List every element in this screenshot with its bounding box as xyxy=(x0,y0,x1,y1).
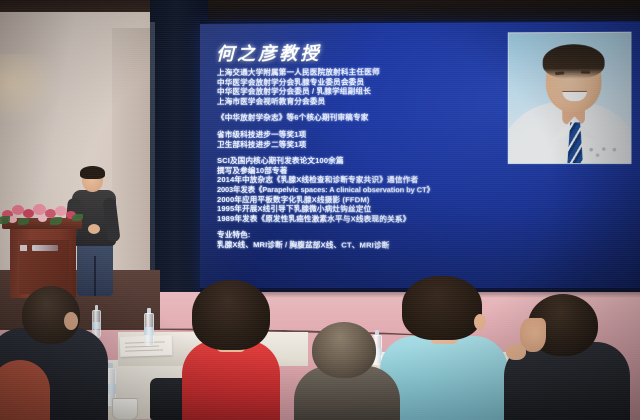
slide-portrait-photo xyxy=(508,32,632,164)
portrait-eye-right xyxy=(581,70,590,73)
affiliation-line: 上海市医学会视听教育分会委员 xyxy=(217,96,521,106)
audience-head xyxy=(402,276,482,340)
portrait-hair xyxy=(543,44,605,79)
podium-logo-mark xyxy=(20,245,27,251)
slide-body: 上海交通大学附属第一人民医院放射科主任医师 中华医学会放射学分会乳腺专业委员会委… xyxy=(217,67,521,258)
audience-woman-red-top xyxy=(178,282,298,420)
audience-hand xyxy=(506,344,526,360)
lecture-hall-photo: 何之彦教授 上海交通大学附属第一人民医院放射科主任医师 中华医学会放射学分会乳腺… xyxy=(0,0,640,420)
projection-screen: 何之彦教授 上海交通大学附属第一人民医院放射科主任医师 中华医学会放射学分会乳腺… xyxy=(200,21,640,294)
water-bottle xyxy=(144,313,154,346)
presenter-hand xyxy=(88,224,100,234)
slide-publications: SCI及国内核心期刊发表论文100余篇 撰写及参编10部专著 2014年中放杂志… xyxy=(217,156,521,224)
audience-man-dark-jacket-right xyxy=(512,296,640,420)
podium-flowers xyxy=(0,200,86,226)
publication-line: 1989年发表《原发性乳癌性激素水平与X线表现的关系》 xyxy=(217,214,562,225)
publication-line: 2014年中放杂志《乳腺X线检查和诊断专家共识》通信作者 xyxy=(217,175,562,185)
slide-awards: 省市级科技进步一等奖1项 卫生部科技进步二等奖1项 xyxy=(217,130,521,150)
podium-logo xyxy=(32,245,58,251)
slide-affiliations: 上海交通大学附属第一人民医院放射科主任医师 中华医学会放射学分会乳腺专业委员会委… xyxy=(217,67,521,107)
slide-journals: 《中华放射学杂志》等6个核心期刊审稿专家 xyxy=(217,113,521,123)
journal-line: 《中华放射学杂志》等6个核心期刊审稿专家 xyxy=(217,113,521,123)
audience-man-dark-suit-far-right xyxy=(300,322,396,420)
audience-head xyxy=(192,280,270,350)
podium xyxy=(2,196,82,300)
publication-line: 1995年开展X线引导下乳腺微小病灶钩丝定位 xyxy=(217,204,521,214)
presentation-slide: 何之彦教授 上海交通大学附属第一人民医院放射科主任医师 中华医学会放射学分会乳腺… xyxy=(200,21,640,294)
publication-line: 2003年发表《Parapelvic spaces: A clinical ob… xyxy=(217,185,562,195)
specialty-line: 乳腺X线、MRI诊断 / 胸腹盆部X线、CT、MRI诊断 xyxy=(217,240,562,251)
dark-column-edge xyxy=(150,22,155,300)
audience-ear xyxy=(64,312,78,330)
slide-specialty: 专业特色: 乳腺X线、MRI诊断 / 胸腹盆部X线、CT、MRI诊断 xyxy=(217,230,521,250)
wall-light-glow xyxy=(0,54,60,124)
audience-head xyxy=(312,322,376,378)
slide-title: 何之彦教授 xyxy=(216,39,322,66)
audience-ear xyxy=(474,314,486,330)
presenter-hair xyxy=(80,166,105,179)
award-line: 卫生部科技进步二等奖1项 xyxy=(217,139,521,149)
portrait-watermark xyxy=(587,145,622,157)
audience-partial-left-edge xyxy=(0,330,38,420)
publication-line: SCI及国内核心期刊发表论文100余篇 xyxy=(217,156,521,166)
award-line: 省市级科技进步一等奖1项 xyxy=(217,130,521,140)
audience-shoulders xyxy=(182,340,280,420)
